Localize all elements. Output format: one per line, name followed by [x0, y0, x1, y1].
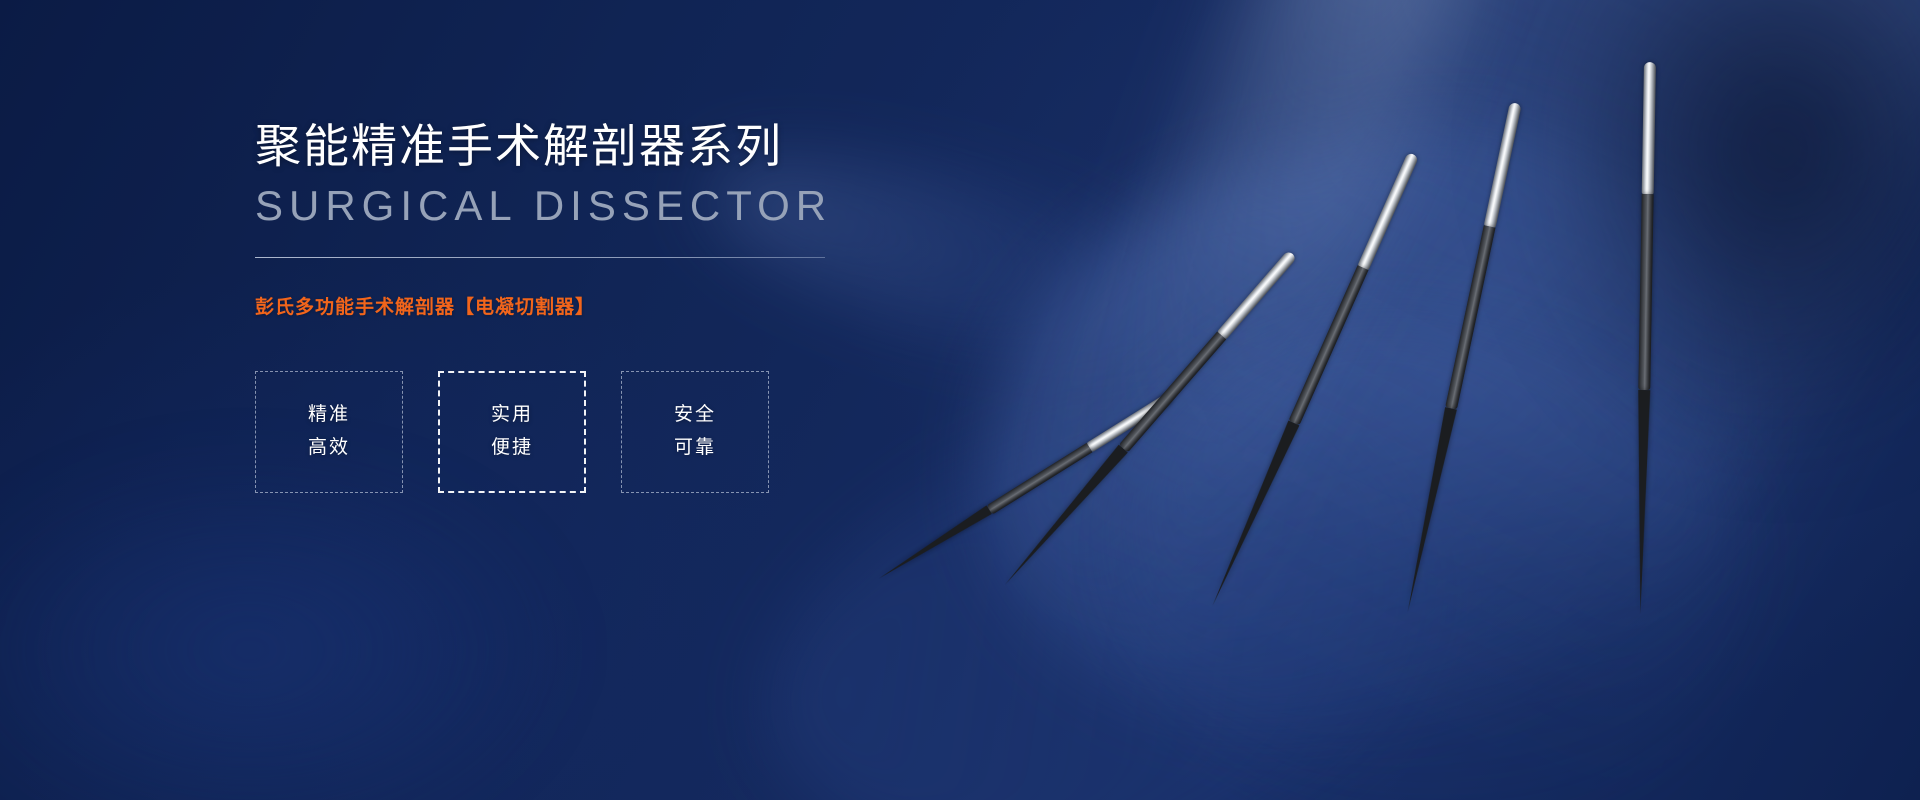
feature-badge-practical: 实用 便捷	[438, 371, 586, 493]
banner-subtitle-product-name: 彭氏多功能手术解剖器【电凝切割器】	[255, 292, 915, 319]
feature-badge-safety-line1: 安全	[674, 405, 716, 426]
feature-badge-practical-line1: 实用	[491, 405, 533, 426]
product-image-instruments	[1180, 40, 1880, 760]
instrument-4-handle	[1484, 102, 1522, 228]
feature-badge-safety-line2: 可靠	[674, 438, 716, 459]
product-hero-banner: 聚能精准手术解剖器系列 SURGICAL DISSECTOR 彭氏多功能手术解剖…	[0, 0, 1920, 800]
feature-badge-precision-line2: 高效	[308, 438, 350, 459]
instrument-5-tip	[1634, 390, 1650, 614]
instrument-5-handle	[1642, 62, 1656, 194]
instrument-1-tip	[876, 505, 992, 582]
instrument-3-tip	[1207, 421, 1299, 609]
instrument-4-tip	[1402, 407, 1457, 613]
instrument-2-shaft	[1119, 332, 1226, 453]
feature-badge-precision: 精准 高效	[255, 371, 403, 493]
feature-badge-safety: 安全 可靠	[621, 371, 769, 493]
instrument-4-shaft	[1445, 225, 1495, 409]
feature-badge-group: 精准 高效 实用 便捷 安全 可靠	[255, 371, 915, 493]
instrument-3-shaft	[1288, 265, 1368, 425]
title-divider	[255, 257, 825, 258]
banner-title-chinese: 聚能精准手术解剖器系列	[255, 118, 915, 174]
instrument-3-handle	[1358, 152, 1419, 270]
feature-badge-practical-line2: 便捷	[491, 438, 533, 459]
banner-text-block: 聚能精准手术解剖器系列 SURGICAL DISSECTOR 彭氏多功能手术解剖…	[255, 118, 915, 493]
instrument-2-handle	[1217, 250, 1297, 339]
background-glow-left	[0, 460, 560, 800]
banner-title-english: SURGICAL DISSECTOR	[255, 180, 915, 233]
feature-badge-precision-line1: 精准	[308, 405, 350, 426]
instrument-5-shaft	[1638, 194, 1653, 390]
